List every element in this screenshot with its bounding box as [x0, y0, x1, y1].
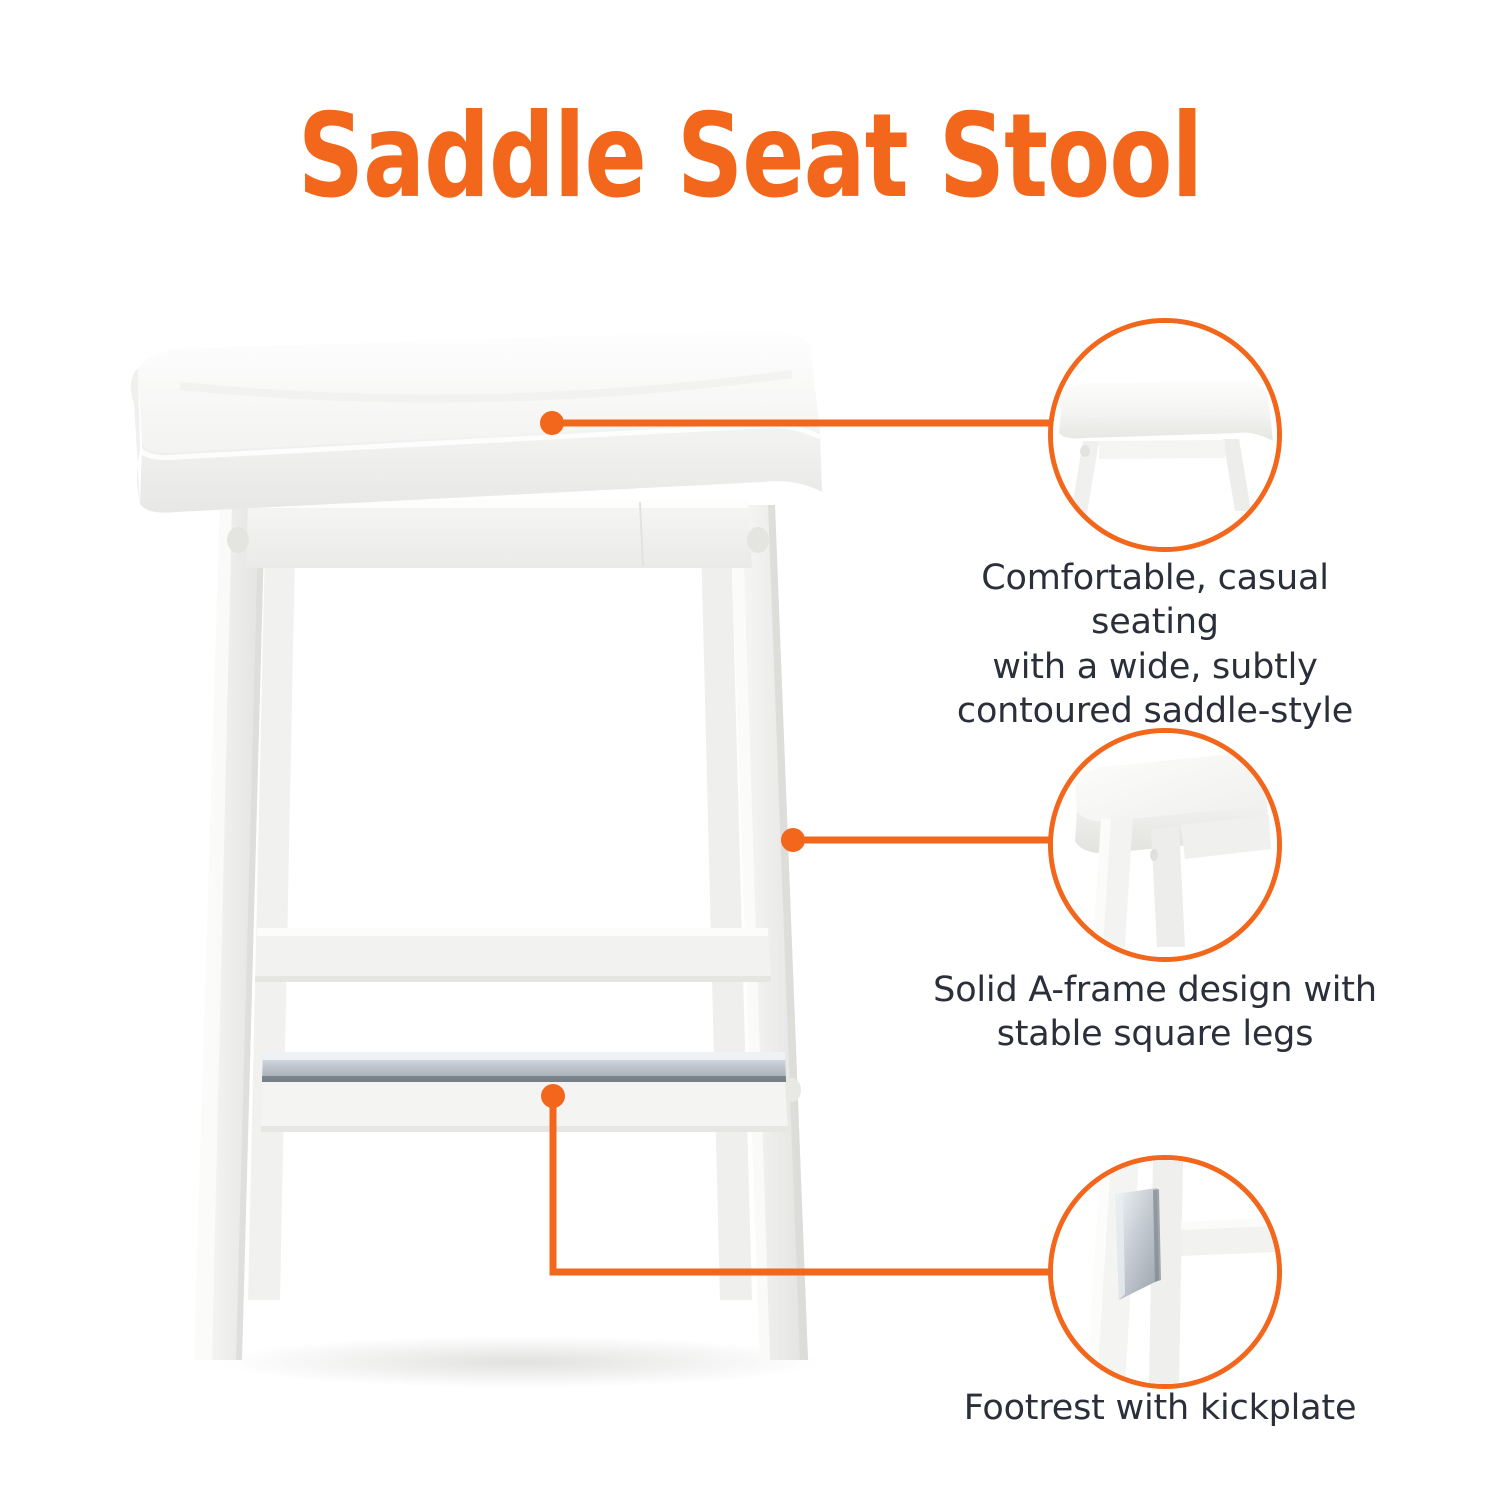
product-image	[120, 300, 940, 1450]
apron	[246, 500, 752, 568]
metal-kickplate	[262, 1052, 786, 1082]
saddle-seat	[131, 330, 822, 513]
infographic-canvas: Saddle Seat Stool	[0, 0, 1500, 1500]
callout-legs-detail-circle[interactable]	[1048, 728, 1282, 962]
stool-illustration	[120, 300, 940, 1450]
callout-seat-detail-circle[interactable]	[1048, 318, 1282, 552]
callout-legs-line-1: Solid A-frame design with	[930, 968, 1380, 1012]
page-title: Saddle Seat Stool	[90, 96, 1410, 218]
callout-footrest-detail-circle[interactable]	[1048, 1155, 1282, 1389]
callout-seat-line-1: Comfortable, casual seating	[920, 556, 1390, 645]
screw-plug-left	[227, 527, 249, 553]
leg-joint-closeup-icon	[1053, 733, 1277, 957]
callout-footrest-line-1: Footrest with kickplate	[950, 1386, 1370, 1430]
callout-legs-line-2: stable square legs	[930, 1012, 1380, 1056]
footrest-kickplate-closeup-icon	[1053, 1160, 1277, 1384]
callout-footrest-text: Footrest with kickplate	[950, 1386, 1370, 1430]
saddle-seat-closeup-icon	[1053, 323, 1277, 547]
floor-shadow	[220, 1336, 820, 1388]
screw-plug-right	[747, 527, 769, 553]
callout-legs-text: Solid A-frame design with stable square …	[930, 968, 1380, 1057]
stretcher-rail	[255, 928, 771, 982]
callout-seat-line-2: with a wide, subtly	[920, 645, 1390, 689]
rear-legs	[248, 500, 752, 1300]
